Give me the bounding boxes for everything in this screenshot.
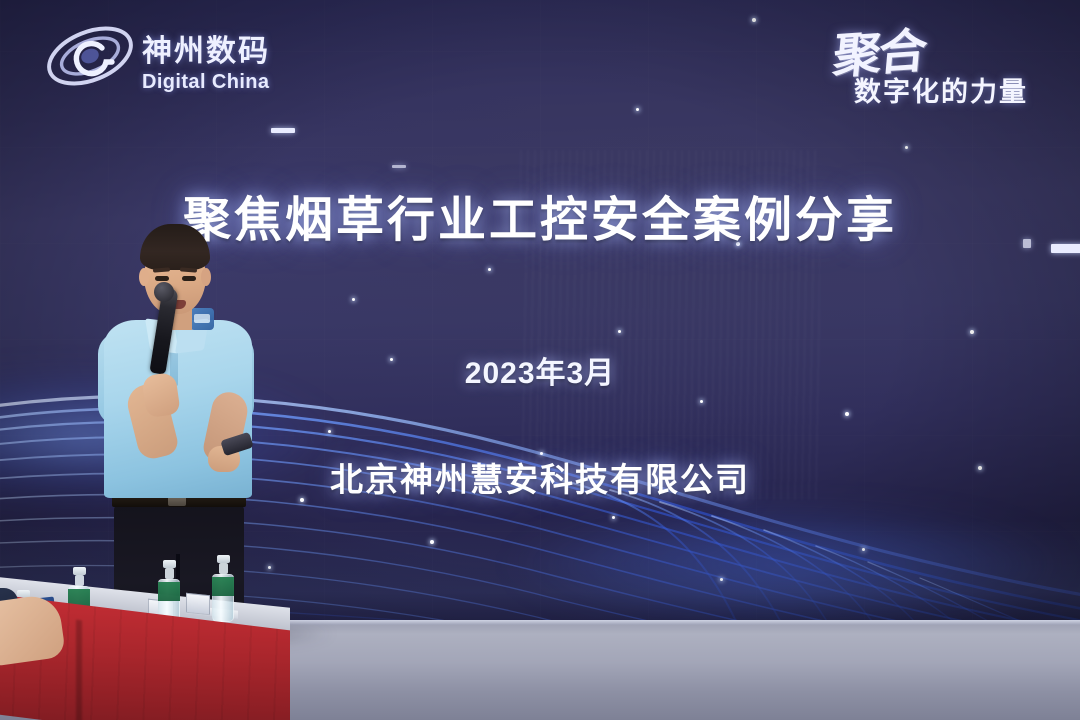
bottle-cap [217, 555, 230, 563]
swirl-galaxy-logo-icon [44, 20, 136, 92]
presenter-hair [140, 224, 210, 270]
conference-stage-photo: 神州数码 Digital China 聚合 数字化的力量 聚焦烟草行业工控安全案… [0, 0, 1080, 720]
bottle-cap [73, 567, 86, 575]
screen-accent-tick [392, 165, 406, 168]
logo-wordmark: 神州数码 Digital China [142, 26, 270, 94]
presenter-eye-right [182, 276, 196, 281]
presenter-ear-left [139, 268, 149, 286]
presenter-ear-right [201, 268, 211, 286]
event-calligraphy: 聚合 数字化的力量 [802, 14, 1052, 114]
digital-china-logo: 神州数码 Digital China [44, 16, 304, 96]
bottle-cap [163, 560, 176, 568]
bottle-label [212, 577, 234, 596]
bottle-label [158, 582, 180, 601]
table-skirt-fold [76, 620, 82, 720]
presenter-eye-left [155, 276, 169, 281]
polo-chest-logo-icon [190, 308, 214, 330]
bottle-neck [219, 563, 228, 574]
calligraphy-subline: 数字化的力量 [854, 70, 1028, 109]
bottle-neck [165, 568, 174, 579]
bottle-neck [75, 575, 84, 586]
logo-chinese-name: 神州数码 [142, 26, 270, 70]
water-bottle [212, 555, 234, 622]
screen-accent-tick [271, 128, 295, 133]
logo-english-name: Digital China [142, 71, 270, 94]
table-name-card [186, 593, 210, 616]
